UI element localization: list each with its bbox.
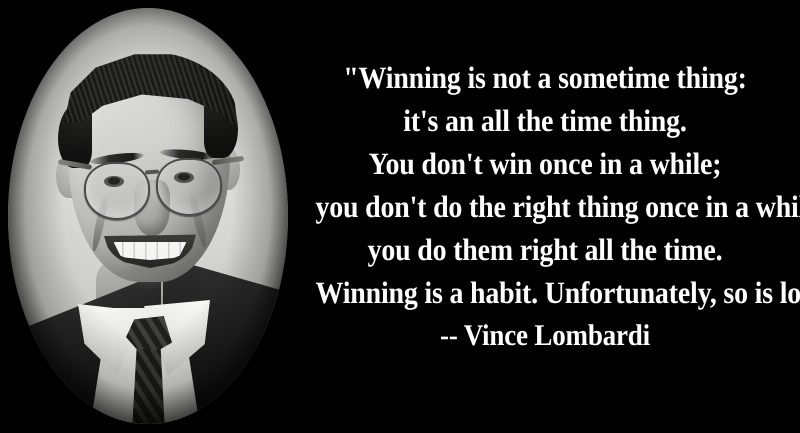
- quote-line-6: Winning is a habit. Unfortunately, so is…: [316, 271, 775, 314]
- eyeglass-lens-right: [156, 158, 222, 216]
- quote-line-4: you don't do the right thing once in a w…: [316, 185, 775, 228]
- quote-text-block: "Winning is not a sometime thing: it's a…: [290, 56, 800, 357]
- quote-line-1: "Winning is not a sometime thing:: [316, 56, 775, 99]
- portrait-backdrop: [8, 8, 288, 424]
- quote-line-5: you do them right all the time.: [316, 228, 775, 271]
- eyeglasses-icon: [62, 156, 242, 218]
- quote-attribution: -- Vince Lombardi: [316, 314, 775, 357]
- eyeglass-temple-right: [212, 156, 244, 165]
- quote-line-3: You don't win once in a while;: [316, 142, 775, 185]
- eyeglass-lens-left: [84, 162, 150, 220]
- portrait-photo: [8, 8, 288, 424]
- quote-graphic: "Winning is not a sometime thing: it's a…: [0, 0, 800, 433]
- eyeglass-temple-left: [58, 159, 92, 170]
- quote-line-2: it's an all the time thing.: [316, 99, 775, 142]
